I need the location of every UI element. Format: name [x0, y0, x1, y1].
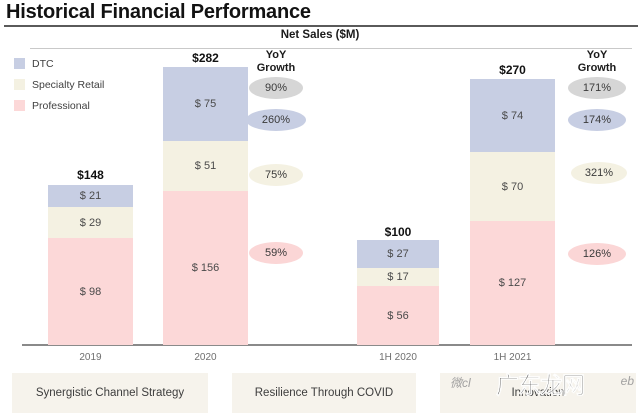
segment-label-dtc-2020: $ 75	[163, 98, 248, 110]
bar-total-1h-2021: $270	[470, 63, 555, 77]
bar-1h-2021[interactable]: $ 74 $ 70 $ 127	[470, 79, 555, 345]
segment-specialty-2019[interactable]: $ 29	[48, 207, 133, 238]
bar-1h-2020[interactable]: $ 27 $ 17 $ 56	[357, 240, 439, 345]
yoy-pill-specialty-1h-2021[interactable]: 321%	[571, 162, 627, 184]
bar-total-2019: $148	[48, 168, 133, 182]
segment-dtc-2020[interactable]: $ 75	[163, 67, 248, 141]
yoy-header-right-line2: Growth	[578, 62, 617, 74]
segment-label-specialty-2019: $ 29	[48, 217, 133, 229]
segment-label-professional-2019: $ 98	[48, 286, 133, 298]
segment-specialty-1h-2021[interactable]: $ 70	[470, 152, 555, 221]
bar-group-2019[interactable]: $148 $ 21 $ 29 $ 98 2019	[48, 49, 133, 367]
segment-professional-1h-2020[interactable]: $ 56	[357, 286, 439, 345]
bar-2020[interactable]: $ 75 $ 51 $ 156	[163, 67, 248, 345]
legend-swatch-specialty-retail	[14, 79, 25, 90]
page-title: Historical Financial Performance	[0, 0, 640, 25]
caption-row: Synergistic Channel Strategy Resilience …	[0, 370, 640, 414]
segment-professional-1h-2021[interactable]: $ 127	[470, 221, 555, 345]
segment-specialty-1h-2020[interactable]: $ 17	[357, 268, 439, 286]
yoy-growth-header-left: YoY Growth	[246, 49, 306, 75]
yoy-pill-total-2020[interactable]: 90%	[249, 77, 303, 99]
caption-synergistic-channel-strategy[interactable]: Synergistic Channel Strategy	[12, 373, 208, 413]
yoy-pill-dtc-1h-2021[interactable]: 174%	[568, 109, 626, 131]
yoy-header-line2: Growth	[257, 62, 296, 74]
tick-label-2019: 2019	[48, 352, 133, 363]
segment-professional-2020[interactable]: $ 156	[163, 191, 248, 345]
yoy-header-right-line1: YoY	[587, 49, 608, 61]
bar-group-1h-2021[interactable]: $270 $ 74 $ 70 $ 127 1H 2021	[470, 49, 555, 367]
tick-label-1h-2020: 1H 2020	[357, 352, 439, 363]
segment-label-professional-1h-2020: $ 56	[357, 310, 439, 322]
segment-label-professional-2020: $ 156	[163, 262, 248, 274]
caption-innovation[interactable]: Innovation	[440, 373, 636, 413]
chart-plot-area: DTC Specialty Retail Professional $148 $…	[0, 49, 640, 367]
yoy-pill-specialty-2020[interactable]: 75%	[249, 164, 303, 186]
segment-label-professional-1h-2021: $ 127	[470, 277, 555, 289]
yoy-header-line1: YoY	[266, 49, 287, 61]
segment-dtc-1h-2021[interactable]: $ 74	[470, 79, 555, 152]
tick-label-2020: 2020	[163, 352, 248, 363]
yoy-pill-total-1h-2021[interactable]: 171%	[568, 77, 626, 99]
segment-label-specialty-2020: $ 51	[163, 160, 248, 172]
segment-label-specialty-1h-2021: $ 70	[470, 181, 555, 193]
chart-subtitle: Net Sales ($M)	[0, 29, 640, 41]
yoy-growth-header-right: YoY Growth	[565, 49, 629, 75]
segment-label-dtc-1h-2021: $ 74	[470, 110, 555, 122]
yoy-pill-professional-1h-2021[interactable]: 126%	[568, 243, 626, 265]
bar-2019[interactable]: $ 21 $ 29 $ 98	[48, 185, 133, 345]
segment-label-specialty-1h-2020: $ 17	[357, 271, 439, 283]
bar-total-2020: $282	[163, 51, 248, 65]
caption-resilience-through-covid[interactable]: Resilience Through COVID	[232, 373, 416, 413]
legend-swatch-professional	[14, 100, 25, 111]
segment-dtc-2019[interactable]: $ 21	[48, 185, 133, 207]
bar-group-2020[interactable]: $282 $ 75 $ 51 $ 156 2020	[163, 49, 248, 367]
segment-specialty-2020[interactable]: $ 51	[163, 141, 248, 191]
segment-label-dtc-1h-2020: $ 27	[357, 248, 439, 260]
segment-dtc-1h-2020[interactable]: $ 27	[357, 240, 439, 268]
segment-label-dtc-2019: $ 21	[48, 190, 133, 202]
segment-professional-2019[interactable]: $ 98	[48, 238, 133, 345]
legend-swatch-dtc	[14, 58, 25, 69]
bar-group-1h-2020[interactable]: $100 $ 27 $ 17 $ 56 1H 2020	[357, 49, 439, 367]
bar-total-1h-2020: $100	[357, 225, 439, 239]
yoy-pill-dtc-2020[interactable]: 260%	[246, 109, 306, 131]
chart-header: Net Sales ($M)	[0, 27, 640, 49]
yoy-pill-professional-2020[interactable]: 59%	[249, 242, 303, 264]
tick-label-1h-2021: 1H 2021	[470, 352, 555, 363]
